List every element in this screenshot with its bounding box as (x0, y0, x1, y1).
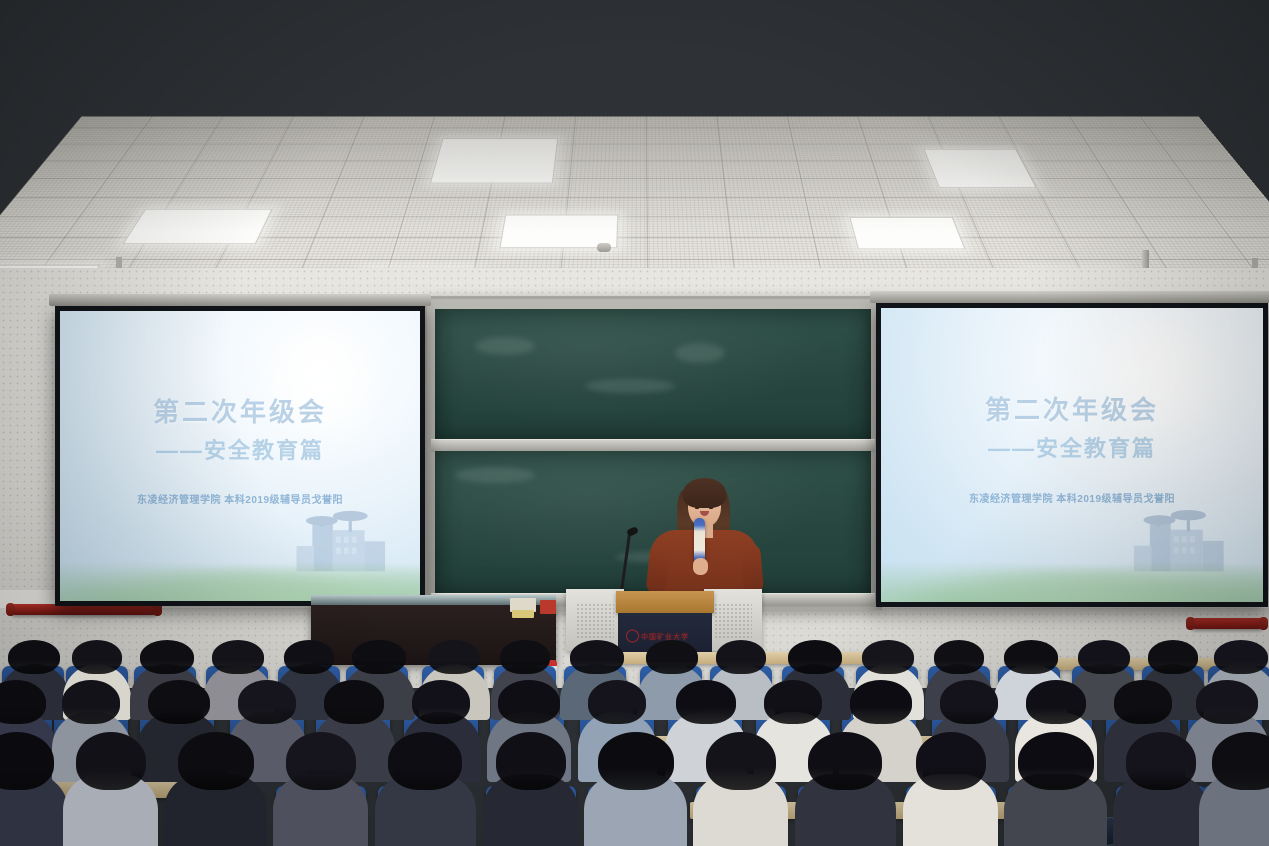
desk-box-red (540, 600, 556, 614)
seated-students (0, 636, 1269, 846)
student-head (428, 640, 480, 674)
student-head (788, 640, 842, 674)
student-head (862, 640, 914, 674)
student-head (1004, 640, 1058, 674)
slide-content-right: 第二次年级会 ——安全教育篇 东凌经济管理学院 本科2019级辅导员戈誉阳 (881, 308, 1263, 602)
student-head (706, 732, 776, 790)
student-head (764, 680, 822, 724)
student-head (140, 640, 194, 674)
student-head (570, 640, 624, 674)
student-head (72, 640, 122, 674)
speaker-grill-icon (714, 603, 752, 639)
student-head (1078, 640, 1130, 674)
screen-roller-left (49, 294, 431, 306)
speaker-grill-icon (576, 603, 614, 639)
screen-roller-right (870, 291, 1269, 303)
chalkboard-panel-top (435, 309, 871, 439)
student-head (324, 680, 384, 724)
left-projection-screen[interactable]: 第二次年级会 ——安全教育篇 东凌经济管理学院 本科2019级辅导员戈誉阳 (55, 306, 425, 606)
student-head (238, 680, 296, 724)
student-head (916, 732, 986, 790)
student-head (1126, 732, 1196, 790)
smoke-detector (597, 243, 611, 252)
presenter-hand (693, 558, 708, 575)
student-head (1018, 732, 1094, 790)
student-head (1114, 680, 1172, 724)
student-head (1196, 680, 1258, 724)
student-head (1214, 640, 1268, 674)
student-head (646, 640, 698, 674)
student-head (286, 732, 356, 790)
presenter-arm-right (740, 543, 764, 595)
student-head (850, 680, 912, 724)
presenter-hair-top (683, 478, 726, 508)
student-head (598, 732, 674, 790)
student-head (716, 640, 766, 674)
slide-title-right: 第二次年级会 (881, 390, 1263, 427)
lectern-wood-top (616, 591, 714, 613)
student-head (498, 680, 560, 724)
desk-box-yellow (512, 610, 534, 618)
student-head (1148, 640, 1198, 674)
student-head (76, 732, 146, 790)
student-head (676, 680, 736, 724)
wall-rail-right (1190, 618, 1264, 629)
lecture-hall-photo: EPSON EPSON 第二次年级会 ——安全教育篇 (0, 0, 1269, 846)
student-head (412, 680, 470, 724)
student-head (148, 680, 210, 724)
student-head (62, 680, 120, 724)
student-head (496, 732, 566, 790)
student-head (588, 680, 646, 724)
slide-content-left: 第二次年级会 ——安全教育篇 东凌经济管理学院 本科2019级辅导员戈誉阳 (60, 311, 420, 601)
student-head (388, 732, 462, 790)
student-head (940, 680, 998, 724)
student-head (934, 640, 984, 674)
presenter-speaker (646, 478, 762, 600)
student-head (500, 640, 550, 674)
slide-subtitle-left: ——安全教育篇 (60, 433, 420, 465)
student-head (1026, 680, 1086, 724)
student-head (808, 732, 882, 790)
student-head (178, 732, 254, 790)
student-head (8, 640, 60, 674)
student-head (212, 640, 264, 674)
slide-foliage-right (881, 555, 1263, 602)
slide-title-left: 第二次年级会 (60, 392, 420, 429)
student-head (1212, 732, 1269, 790)
student-head (352, 640, 406, 674)
slide-subtitle-right: ——安全教育篇 (881, 431, 1263, 463)
student-head (284, 640, 334, 674)
right-projection-screen[interactable]: 第二次年级会 ——安全教育篇 东凌经济管理学院 本科2019级辅导员戈誉阳 (876, 303, 1268, 607)
